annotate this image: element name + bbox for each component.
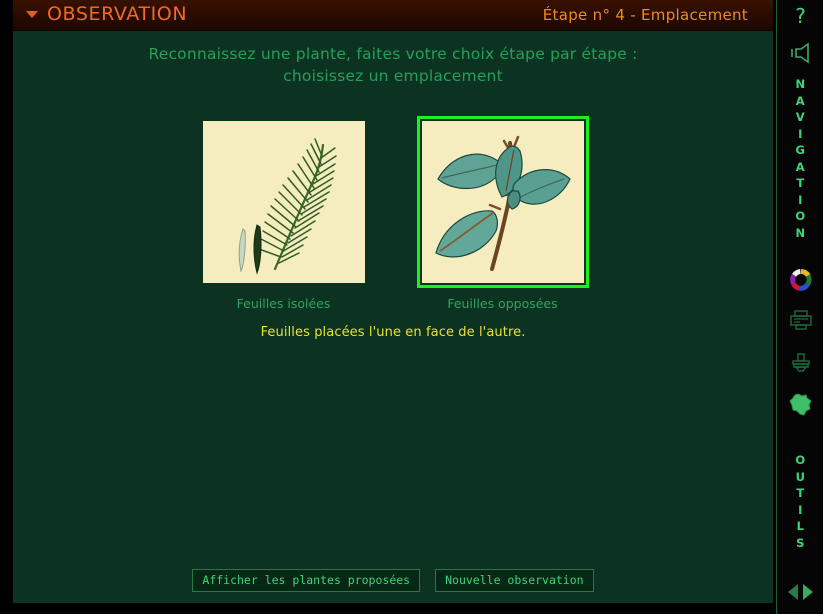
choice-feuilles-isolees[interactable]: Feuilles isolées	[198, 116, 370, 311]
choice-2-label: Feuilles opposées	[447, 296, 557, 311]
france-map-icon-glyph	[788, 392, 814, 418]
choice-1-label: Feuilles isolées	[237, 296, 331, 311]
color-wheel-icon[interactable]	[777, 266, 823, 294]
title-bar: OBSERVATION Étape n° 4 - Emplacement	[13, 0, 773, 31]
choice-list: Feuilles isolées	[13, 116, 773, 311]
arrow-left-icon[interactable]	[788, 584, 798, 600]
printer-icon[interactable]	[777, 306, 823, 334]
stamp-icon[interactable]	[777, 348, 823, 378]
conifer-branch-illustration	[203, 121, 365, 283]
selection-description: Feuilles placées l'une en face de l'autr…	[13, 325, 773, 340]
printer-icon-glyph	[789, 309, 813, 331]
choice-2-frame[interactable]	[417, 116, 589, 288]
tools-section-label: OUTILS	[777, 452, 823, 551]
tool-sidebar: ? NAVIGATION	[776, 0, 823, 614]
application-window: OBSERVATION Étape n° 4 - Emplacement Rec…	[0, 0, 823, 614]
arrow-right-icon[interactable]	[803, 584, 813, 600]
new-observation-button[interactable]: Nouvelle observation	[435, 569, 593, 592]
app-title: OBSERVATION	[47, 3, 187, 25]
color-wheel-icon-glyph	[789, 268, 813, 292]
choice-1-frame[interactable]	[198, 116, 370, 288]
speaker-icon[interactable]	[777, 38, 823, 68]
action-button-bar: Afficher les plantes proposées Nouvelle …	[13, 569, 773, 592]
navigation-section-label: NAVIGATION	[777, 76, 823, 241]
choice-feuilles-opposees[interactable]: Feuilles opposées	[417, 116, 589, 311]
navigation-arrows	[777, 584, 823, 600]
help-icon[interactable]: ?	[777, 2, 823, 30]
main-content: Reconnaissez une plante, faites votre ch…	[13, 31, 773, 603]
conifer-branch-image[interactable]	[203, 121, 365, 283]
opposite-leaves-illustration	[422, 121, 584, 283]
title-bar-left-group: OBSERVATION	[26, 3, 187, 25]
instructions-line-1: Reconnaissez une plante, faites votre ch…	[13, 43, 773, 65]
instructions: Reconnaissez une plante, faites votre ch…	[13, 43, 773, 87]
triangle-down-icon[interactable]	[26, 11, 38, 18]
instructions-line-2: choisissez un emplacement	[13, 65, 773, 87]
speaker-icon-glyph	[788, 42, 814, 64]
opposite-leaves-image[interactable]	[422, 121, 584, 283]
step-label: Étape n° 4 - Emplacement	[543, 6, 748, 24]
stamp-icon-glyph	[789, 351, 813, 375]
france-map-icon[interactable]	[777, 390, 823, 420]
show-proposed-plants-button[interactable]: Afficher les plantes proposées	[192, 569, 420, 592]
